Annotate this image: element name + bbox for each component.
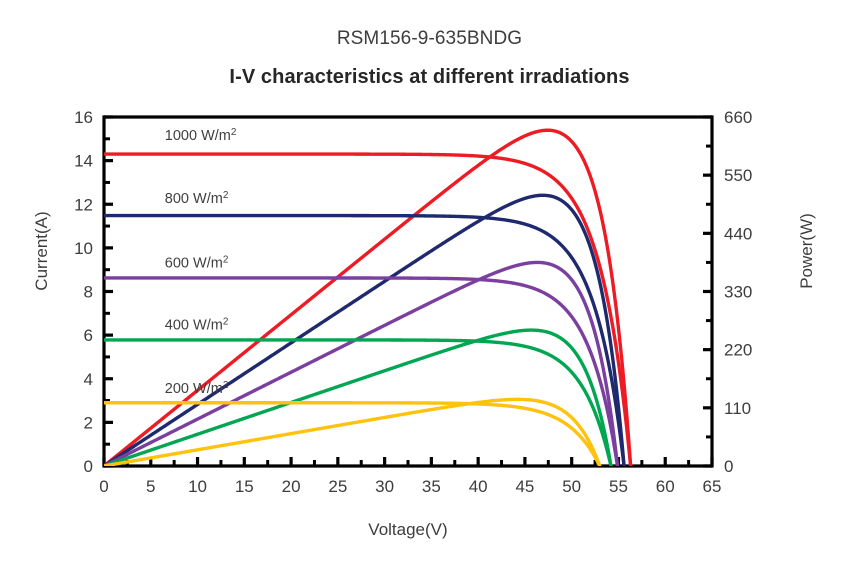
x-tick-label: 5 [146, 477, 155, 496]
x-tick-label: 50 [562, 477, 581, 496]
y2-tick-label: 110 [724, 399, 751, 418]
y2-tick-label: 440 [724, 224, 752, 243]
y-tick-label: 12 [74, 195, 93, 214]
y-tick-label: 4 [84, 370, 93, 389]
y-tick-label: 0 [84, 457, 93, 476]
x-tick-label: 20 [282, 477, 301, 496]
x-tick-label: 40 [469, 477, 488, 496]
series-600-W-m [104, 262, 618, 466]
y-tick-label: 2 [84, 413, 93, 432]
y-tick-label: 16 [74, 108, 93, 127]
y2-tick-label: 220 [724, 341, 752, 360]
y-tick-label: 6 [84, 326, 93, 345]
chart-root: RSM156-9-635BNDG I-V characteristics at … [0, 0, 859, 565]
x-tick-label: 30 [375, 477, 394, 496]
y-tick-label: 14 [74, 152, 93, 171]
series-label: 1000 W/m2 [165, 127, 237, 144]
y2-tick-label: 550 [724, 166, 752, 185]
series-label: 600 W/m2 [165, 255, 229, 272]
series-200-W-m [104, 399, 600, 466]
x-tick-label: 45 [515, 477, 534, 496]
x-tick-label: 35 [422, 477, 441, 496]
x-tick-label: 10 [188, 477, 207, 496]
x-tick-label: 0 [99, 477, 108, 496]
y2-tick-label: 330 [724, 283, 752, 302]
series-label: 800 W/m2 [165, 190, 229, 207]
series-label: 400 W/m2 [165, 317, 229, 334]
series-curves [104, 130, 631, 466]
y-axis-left-ticks: 0246810121416 [74, 108, 113, 476]
series-400-W-m [104, 330, 611, 466]
iv-curve [104, 278, 618, 466]
x-tick-label: 65 [703, 477, 722, 496]
x-tick-label: 15 [235, 477, 254, 496]
x-tick-label: 55 [609, 477, 628, 496]
series-labels: 1000 W/m2800 W/m2600 W/m2400 W/m2200 W/m… [165, 127, 237, 397]
y2-tick-label: 660 [724, 108, 752, 127]
iv-curve [104, 403, 600, 466]
x-tick-label: 25 [328, 477, 347, 496]
y2-tick-label: 0 [724, 457, 733, 476]
y-tick-label: 8 [84, 283, 93, 302]
x-tick-label: 60 [656, 477, 675, 496]
plot-area: 0246810121416011022033044055066005101520… [0, 0, 859, 565]
series-label: 200 W/m2 [165, 380, 229, 397]
x-axis-ticks: 05101520253035404550556065 [99, 457, 721, 496]
y-tick-label: 10 [74, 239, 93, 258]
